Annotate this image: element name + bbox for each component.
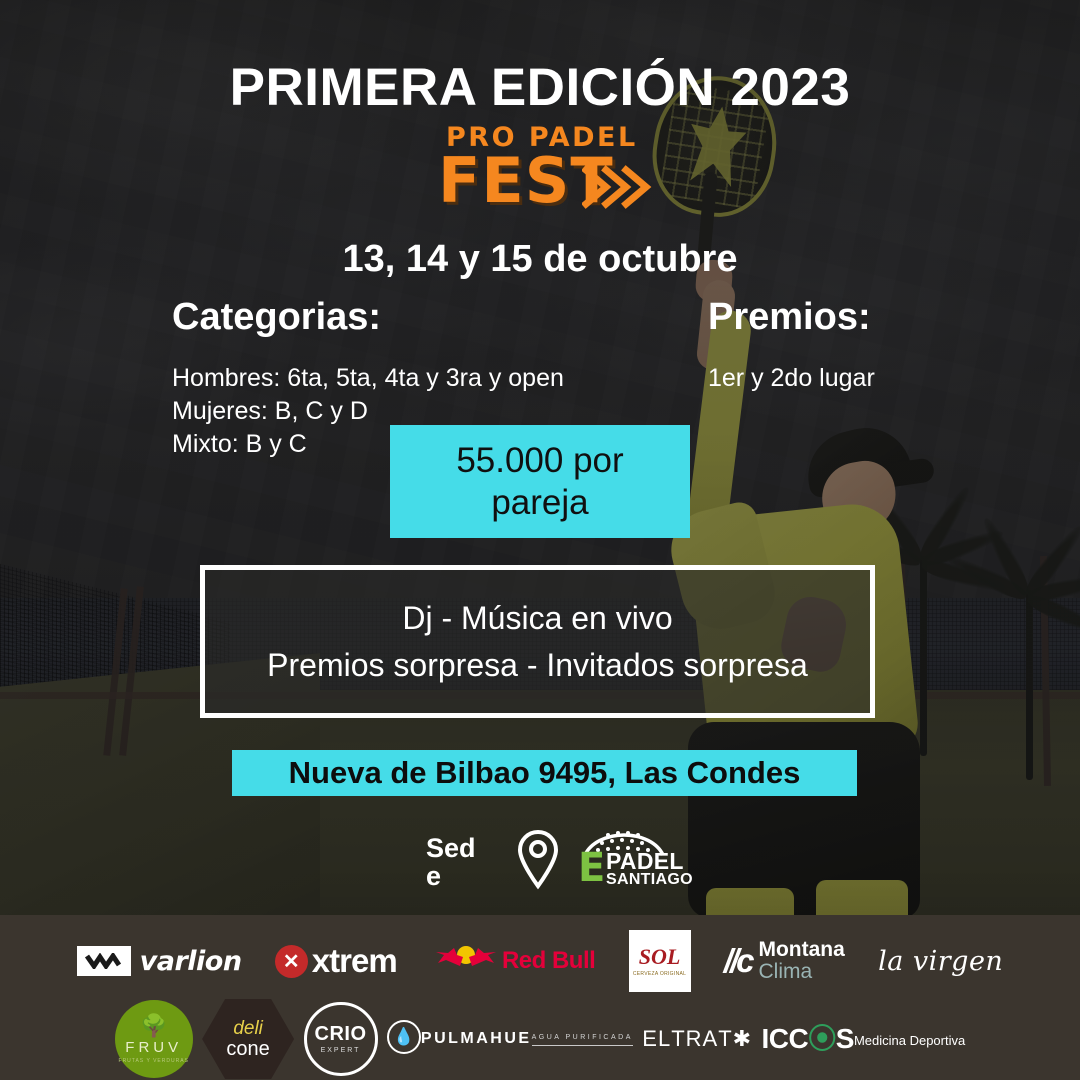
sponsor-la-virgen: la virgen <box>878 946 1003 977</box>
extras-box: Dj - Música en vivo Premios sorpresa - I… <box>200 565 875 718</box>
red-bull-bulls-icon <box>430 946 502 976</box>
sponsor-pulmahue: 💧 PULMAHUE AGUA PURIFICADA <box>387 1020 633 1059</box>
varlion-wave-icon <box>77 946 131 976</box>
xtrem-x-badge-icon: ✕ <box>275 945 308 978</box>
sponsor-sol: SOL CERVEZA ORIGINAL <box>629 930 691 992</box>
delicone-line-2: cone <box>226 1039 269 1059</box>
sol-wordmark: SOL <box>639 946 681 968</box>
price-box: 55.000 por pareja <box>390 425 690 538</box>
delicone-line-1: deli <box>233 1019 263 1038</box>
epadel-padel-text: PADEL <box>606 850 684 873</box>
pulmahue-subtext: AGUA PURIFICADA <box>532 1034 633 1046</box>
category-line: Mujeres: B, C y D <box>172 395 564 428</box>
water-drop-icon: 💧 <box>387 1020 421 1054</box>
category-line: Hombres: 6ta, 5ta, 4ta y 3ra y open <box>172 362 564 395</box>
epadel-e-letter: E <box>578 850 605 886</box>
prize-line: 1er y 2do lugar <box>708 362 875 395</box>
categories-heading: Categorias: <box>172 296 381 339</box>
sponsor-xtrem: ✕ xtrem <box>275 942 397 980</box>
venue-row: Sede <box>418 832 678 904</box>
montana-line-1: Montana <box>758 939 844 961</box>
sponsor-varlion: varlion <box>77 946 242 977</box>
crio-subtext: EXPERT <box>321 1047 361 1054</box>
sponsors-row-2: 🌳 FRUV FRUTAS Y VERDURAS deli cone CRIO … <box>0 999 1080 1079</box>
pulmahue-wordmark: PULMAHUE <box>421 1030 532 1048</box>
sponsor-el-trat: EL TRA T✱ <box>642 1028 752 1050</box>
sponsors-band: varlion ✕ xtrem Red Bull SOL CERVEZA <box>0 915 1080 1080</box>
prizes-list: 1er y 2do lugar <box>708 362 875 395</box>
montana-slashes-icon: //c <box>724 942 752 980</box>
extras-line-2: Premios sorpresa - Invitados sorpresa <box>267 647 808 684</box>
epadel-santiago-text: SANTIAGO <box>606 872 693 888</box>
sponsor-fruv: 🌳 FRUV FRUTAS Y VERDURAS <box>115 1000 193 1078</box>
address-text: Nueva de Bilbao 9495, Las Condes <box>289 755 801 791</box>
event-date: 13, 14 y 15 de octubre <box>0 238 1080 281</box>
sponsor-delicone: deli cone <box>202 999 294 1079</box>
fruv-subtext: FRUTAS Y VERDURAS <box>119 1058 189 1064</box>
pro-padel-fest-logo: PRO PADEL FEST <box>430 122 650 220</box>
iccos-subtext: Medicina Deportiva <box>854 1033 965 1048</box>
sponsor-red-bull: Red Bull <box>430 946 595 976</box>
iccos-wordmark-a: ICC <box>762 1023 809 1054</box>
fruv-wordmark: FRUV <box>125 1039 182 1056</box>
iccos-wordmark-b: S <box>836 1023 854 1054</box>
varlion-wordmark: varlion <box>140 946 242 977</box>
prizes-heading: Premios: <box>708 296 871 339</box>
laurel-leaf-icon: ⦿ <box>808 1023 836 1054</box>
epadel-santiago-logo: E PADEL SANTIAGO <box>568 824 678 898</box>
address-box: Nueva de Bilbao 9495, Las Condes <box>232 750 857 796</box>
montana-line-2: Clima <box>758 961 844 983</box>
venue-label: Sede <box>426 834 478 891</box>
eltrat-line-3: T✱ <box>718 1028 752 1050</box>
poster-title: PRIMERA EDICIÓN 2023 <box>0 57 1080 118</box>
sponsor-montana-clima: //c Montana Clima <box>724 939 845 983</box>
xtrem-wordmark: xtrem <box>312 942 397 980</box>
event-poster: PRIMERA EDICIÓN 2023 PRO PADEL FEST 13, … <box>0 0 1080 1080</box>
sol-subtext: CERVEZA ORIGINAL <box>633 971 686 977</box>
double-chevron-right-icon <box>582 164 652 215</box>
sponsors-row-1: varlion ✕ xtrem Red Bull SOL CERVEZA <box>0 925 1080 997</box>
crio-wordmark: CRIO <box>315 1024 367 1044</box>
location-pin-icon <box>516 828 560 895</box>
tree-icon: 🌳 <box>140 1015 167 1037</box>
eltrat-line-1: EL <box>642 1028 671 1050</box>
price-line-1: 55.000 por <box>456 440 623 481</box>
sponsor-crio: CRIO EXPERT <box>304 1002 378 1076</box>
eltrat-line-2: TRA <box>671 1028 718 1050</box>
extras-line-1: Dj - Música en vivo <box>402 600 672 637</box>
price-line-2: pareja <box>456 482 623 523</box>
sponsor-iccos: ICC⦿S Medicina Deportiva <box>762 1025 966 1053</box>
red-bull-wordmark: Red Bull <box>502 949 595 973</box>
iccos-wordmark: ICC⦿S <box>762 1025 854 1053</box>
